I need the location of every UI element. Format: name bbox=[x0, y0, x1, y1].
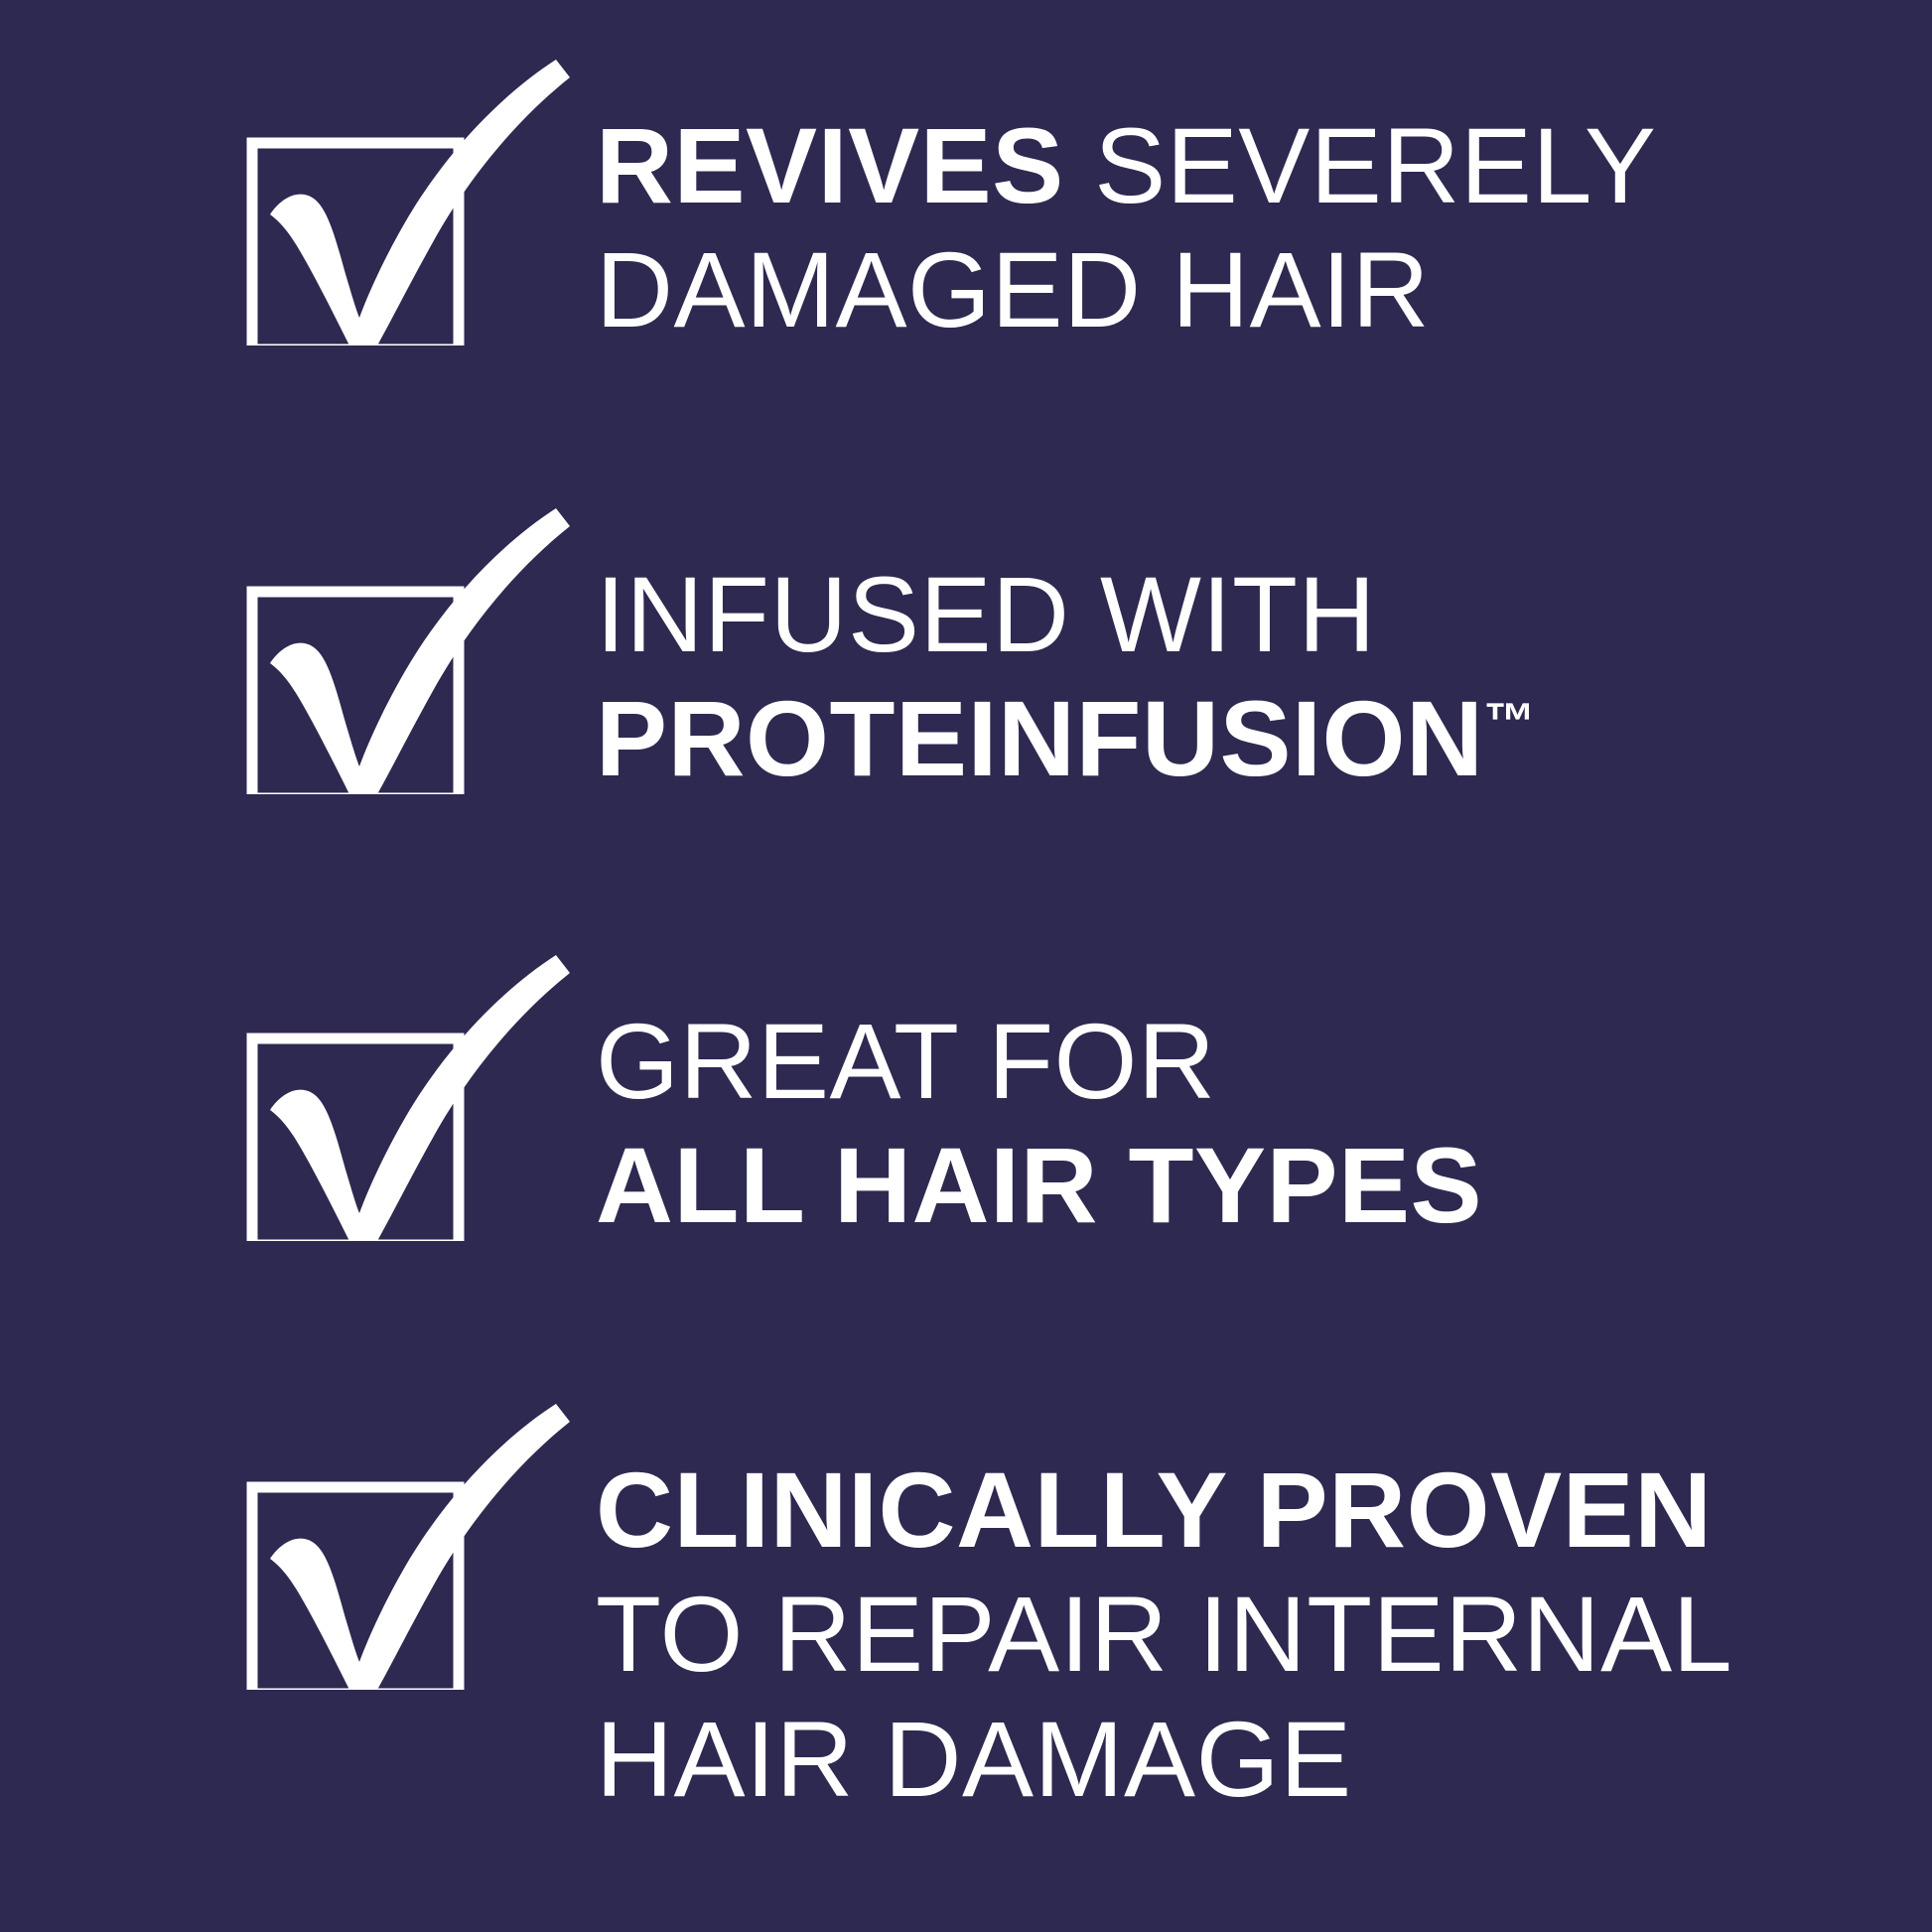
feature-text-0: REVIVES SEVERELYDAMAGED HAIR bbox=[596, 48, 1656, 352]
feature-2-line-1: ALL HAIR TYPES bbox=[596, 1123, 1482, 1247]
feature-text-3: CLINICALLY PROVENTO REPAIR INTERNALHAIR … bbox=[596, 1392, 1732, 1821]
trademark-symbol: ™ bbox=[1484, 692, 1536, 750]
feature-0-line-0-seg-0: REVIVES bbox=[596, 105, 1094, 225]
feature-0-line-1-seg-0: DAMAGED HAIR bbox=[596, 229, 1430, 349]
feature-row-0: REVIVES SEVERELYDAMAGED HAIR bbox=[238, 48, 1656, 352]
feature-row-1: INFUSED WITHPROTEINFUSION™ bbox=[238, 496, 1535, 801]
checkbox-checked-icon bbox=[238, 48, 596, 345]
feature-text-1: INFUSED WITHPROTEINFUSION™ bbox=[596, 496, 1535, 801]
feature-row-2: GREAT FORALL HAIR TYPES bbox=[238, 943, 1482, 1248]
feature-2-line-0-seg-0: GREAT FOR bbox=[596, 1001, 1216, 1121]
benefits-panel: REVIVES SEVERELYDAMAGED HAIR INFUSED WIT… bbox=[0, 0, 1932, 1932]
feature-2-line-0: GREAT FOR bbox=[596, 999, 1482, 1123]
feature-3-line-2-seg-0: HAIR DAMAGE bbox=[596, 1699, 1352, 1819]
feature-1-line-0-seg-0: INFUSED WITH bbox=[596, 554, 1376, 674]
feature-1-line-1: PROTEINFUSION™ bbox=[596, 676, 1535, 800]
checkbox-checked-icon bbox=[238, 943, 596, 1241]
feature-1-line-0: INFUSED WITH bbox=[596, 552, 1535, 676]
feature-1-line-1-seg-0: PROTEINFUSION bbox=[596, 678, 1484, 798]
feature-0-line-1: DAMAGED HAIR bbox=[596, 227, 1656, 351]
feature-0-line-0-seg-1: SEVERELY bbox=[1094, 105, 1656, 225]
checkbox-checked-icon bbox=[238, 1392, 596, 1690]
feature-3-line-1-seg-0: TO REPAIR INTERNAL bbox=[596, 1574, 1732, 1694]
checkbox-checked-icon bbox=[238, 496, 596, 794]
feature-text-2: GREAT FORALL HAIR TYPES bbox=[596, 943, 1482, 1248]
feature-3-line-2: HAIR DAMAGE bbox=[596, 1697, 1732, 1821]
feature-3-line-1: TO REPAIR INTERNAL bbox=[596, 1572, 1732, 1696]
feature-0-line-0: REVIVES SEVERELY bbox=[596, 103, 1656, 227]
feature-3-line-0: CLINICALLY PROVEN bbox=[596, 1448, 1732, 1572]
feature-row-3: CLINICALLY PROVENTO REPAIR INTERNALHAIR … bbox=[238, 1392, 1732, 1821]
feature-2-line-1-seg-0: ALL HAIR TYPES bbox=[596, 1125, 1482, 1245]
feature-3-line-0-seg-0: CLINICALLY PROVEN bbox=[596, 1449, 1713, 1570]
